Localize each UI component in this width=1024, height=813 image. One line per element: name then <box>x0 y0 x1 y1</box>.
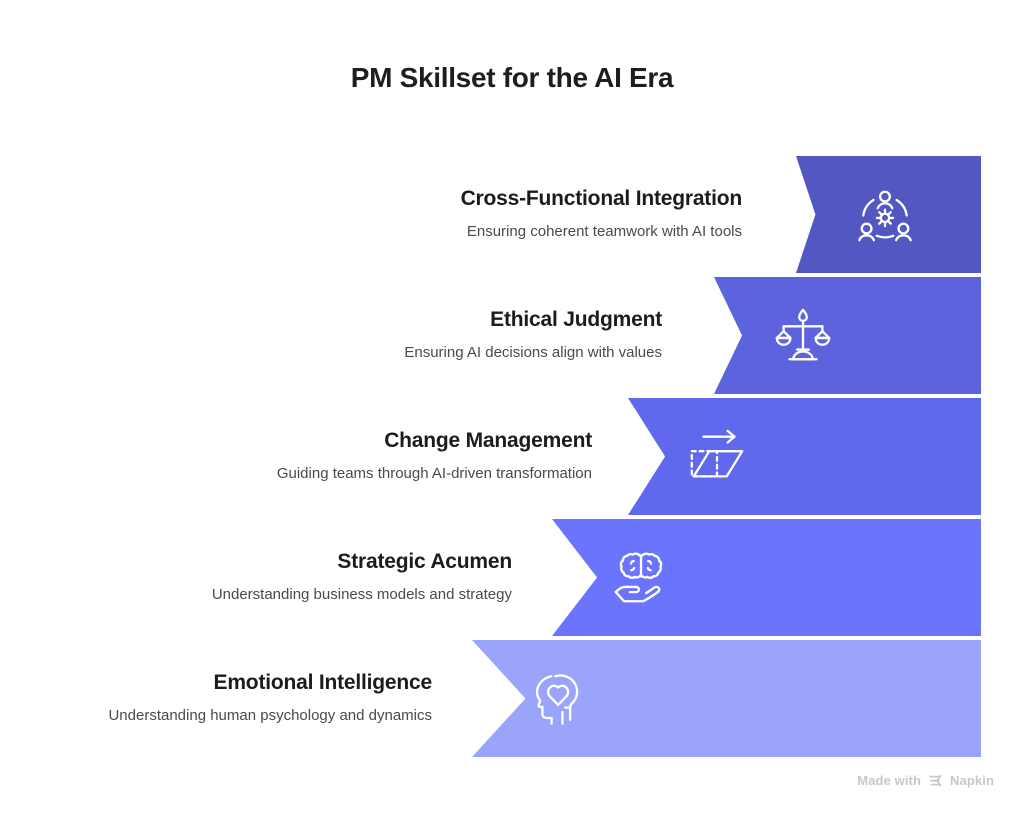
funnel-band[interactable] <box>796 156 981 273</box>
funnel-row-description: Understanding business models and strate… <box>212 584 512 605</box>
footer-made-with-label: Made with <box>857 773 921 788</box>
scales-of-justice-icon <box>772 305 834 367</box>
funnel-row[interactable]: Strategic Acumen Understanding business … <box>0 519 1024 636</box>
funnel-row[interactable]: Change Management Guiding teams through … <box>0 398 1024 515</box>
funnel-row[interactable]: Ethical Judgment Ensuring AI decisions a… <box>0 277 1024 394</box>
team-gear-icon <box>854 184 916 246</box>
funnel-band[interactable] <box>714 277 981 394</box>
footer-brand-name: Napkin <box>950 773 994 788</box>
head-heart-icon <box>530 668 592 730</box>
funnel-row-text: Ethical Judgment Ensuring AI decisions a… <box>290 277 680 394</box>
funnel-row-text: Emotional Intelligence Understanding hum… <box>60 640 450 757</box>
funnel-row-text: Cross-Functional Integration Ensuring co… <box>330 156 760 273</box>
funnel-row-title: Strategic Acumen <box>337 549 512 575</box>
page-title: PM Skillset for the AI Era <box>0 62 1024 94</box>
funnel-row-title: Cross-Functional Integration <box>461 186 742 212</box>
funnel-row-description: Ensuring coherent teamwork with AI tools <box>467 221 742 242</box>
transformation-arrow-icon <box>686 426 748 488</box>
funnel-chart: Cross-Functional Integration Ensuring co… <box>0 156 1024 761</box>
funnel-band[interactable] <box>628 398 981 515</box>
napkin-logo-icon <box>928 774 943 788</box>
funnel-band[interactable] <box>472 640 981 757</box>
funnel-row-description: Understanding human psychology and dynam… <box>108 705 432 726</box>
funnel-row-title: Ethical Judgment <box>490 307 662 333</box>
funnel-row-description: Guiding teams through AI-driven transfor… <box>277 463 592 484</box>
funnel-row[interactable]: Emotional Intelligence Understanding hum… <box>0 640 1024 757</box>
funnel-row-title: Change Management <box>384 428 592 454</box>
infographic-canvas: PM Skillset for the AI Era Cross-Functio… <box>0 0 1024 813</box>
brain-in-hand-icon <box>610 547 672 609</box>
funnel-row-description: Ensuring AI decisions align with values <box>404 342 662 363</box>
made-with-napkin-footer[interactable]: Made with Napkin <box>857 773 994 788</box>
funnel-row[interactable]: Cross-Functional Integration Ensuring co… <box>0 156 1024 273</box>
funnel-band[interactable] <box>552 519 981 636</box>
funnel-row-text: Change Management Guiding teams through … <box>250 398 610 515</box>
funnel-row-title: Emotional Intelligence <box>214 670 432 696</box>
funnel-row-text: Strategic Acumen Understanding business … <box>160 519 530 636</box>
